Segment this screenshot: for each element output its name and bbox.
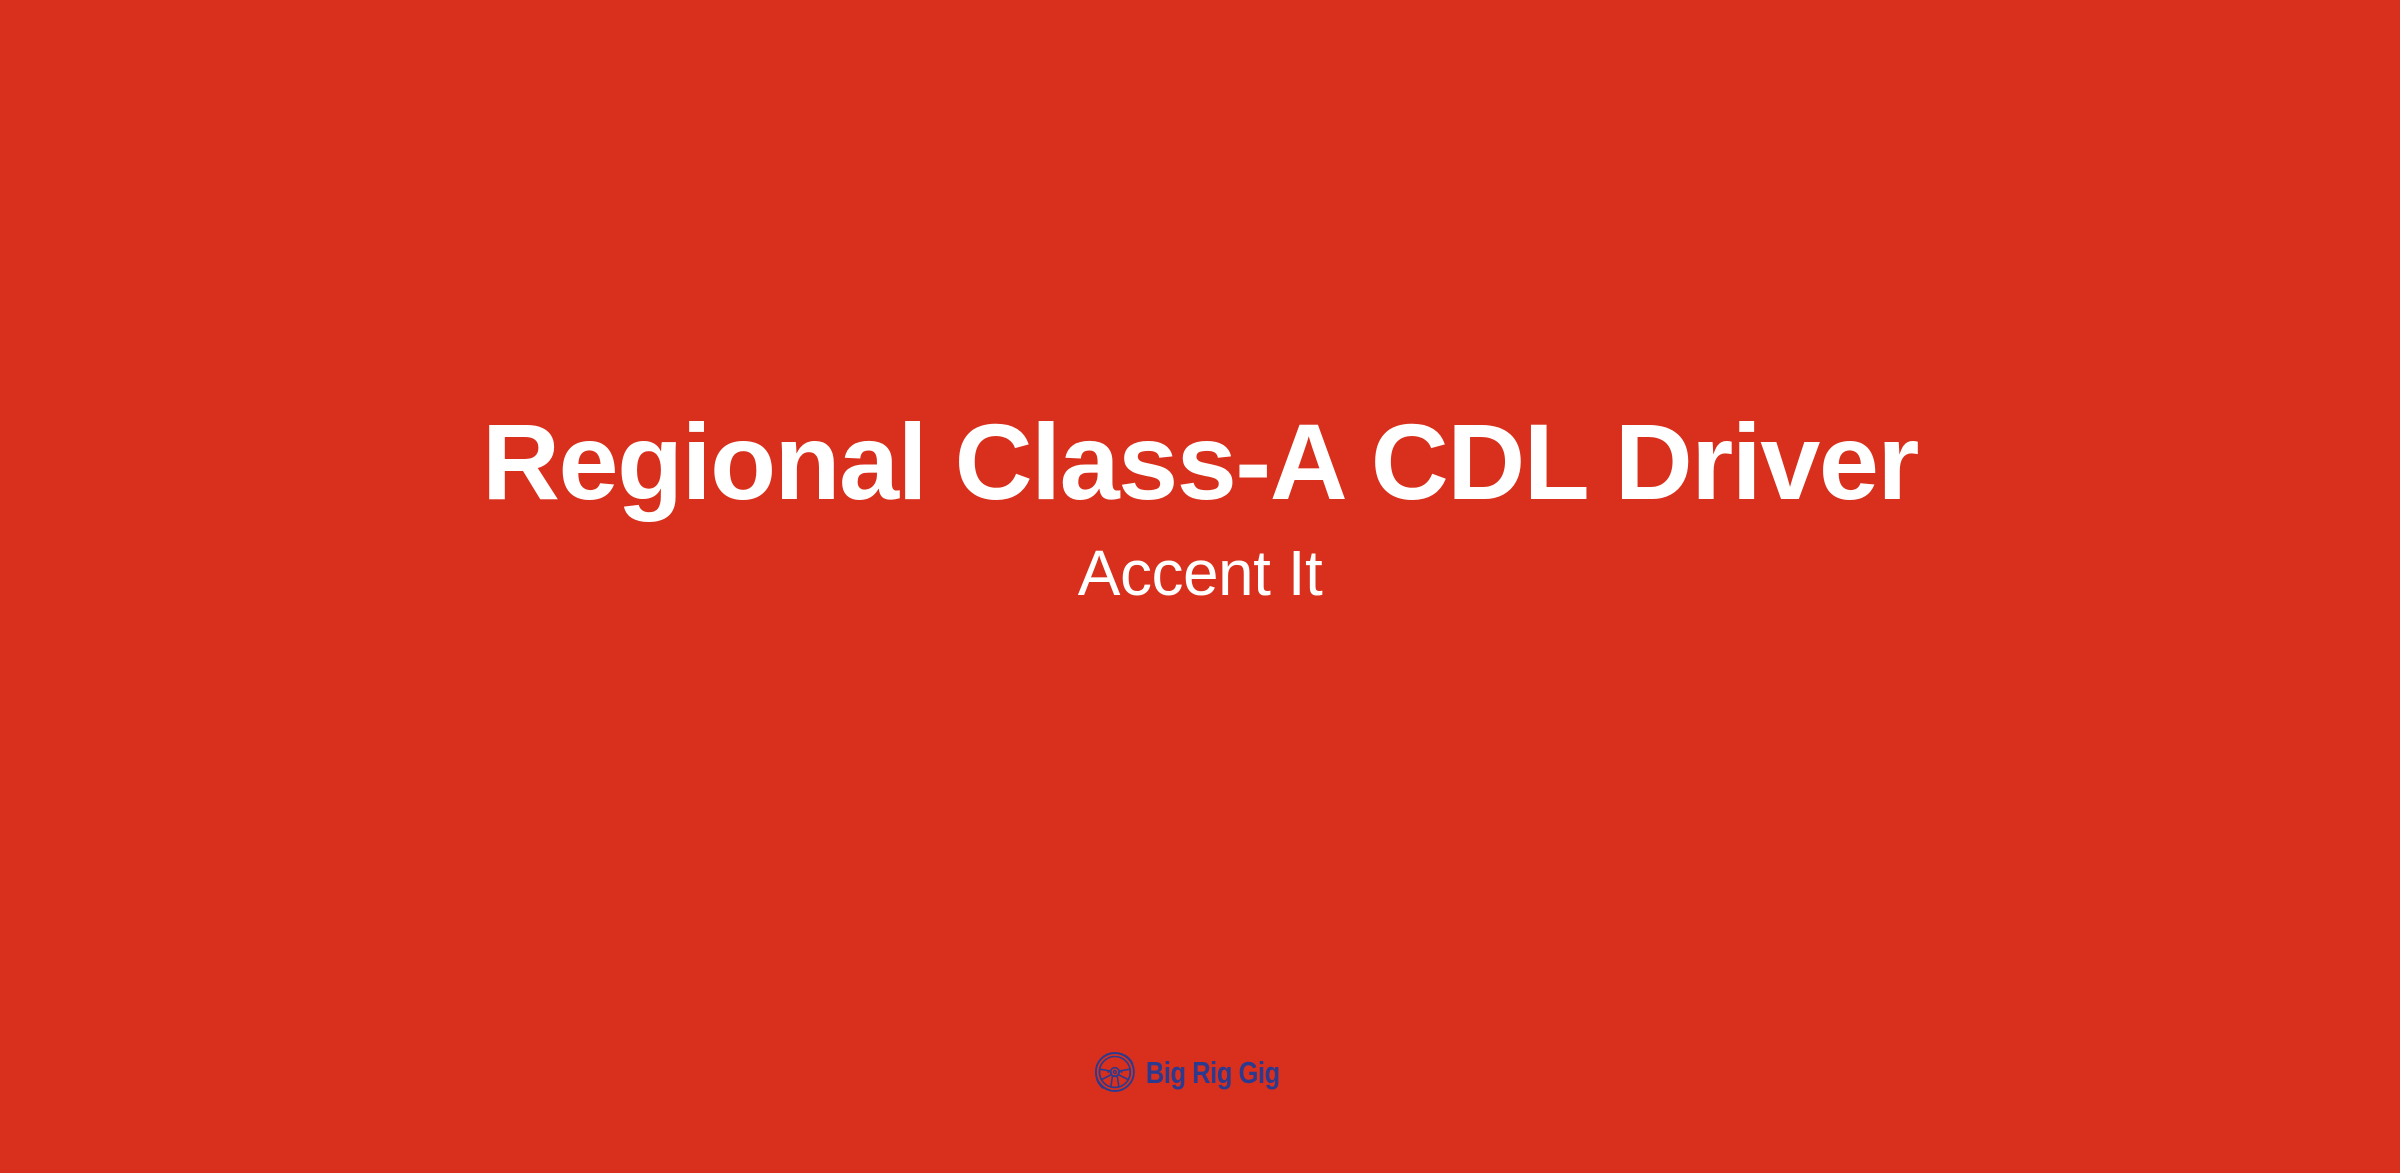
brand-wordmark: Big Rig Gig (1146, 1057, 1280, 1088)
hero-section: Regional Class-A CDL Driver Accent It (0, 0, 2400, 1015)
job-title: Regional Class-A CDL Driver (482, 405, 1918, 519)
job-posting-card: Regional Class-A CDL Driver Accent It (0, 0, 2400, 1173)
company-name: Accent It (1078, 538, 1323, 610)
brand-lockup: Big Rig Gig (1091, 1046, 1309, 1098)
steering-wheel-icon (1091, 1048, 1139, 1096)
